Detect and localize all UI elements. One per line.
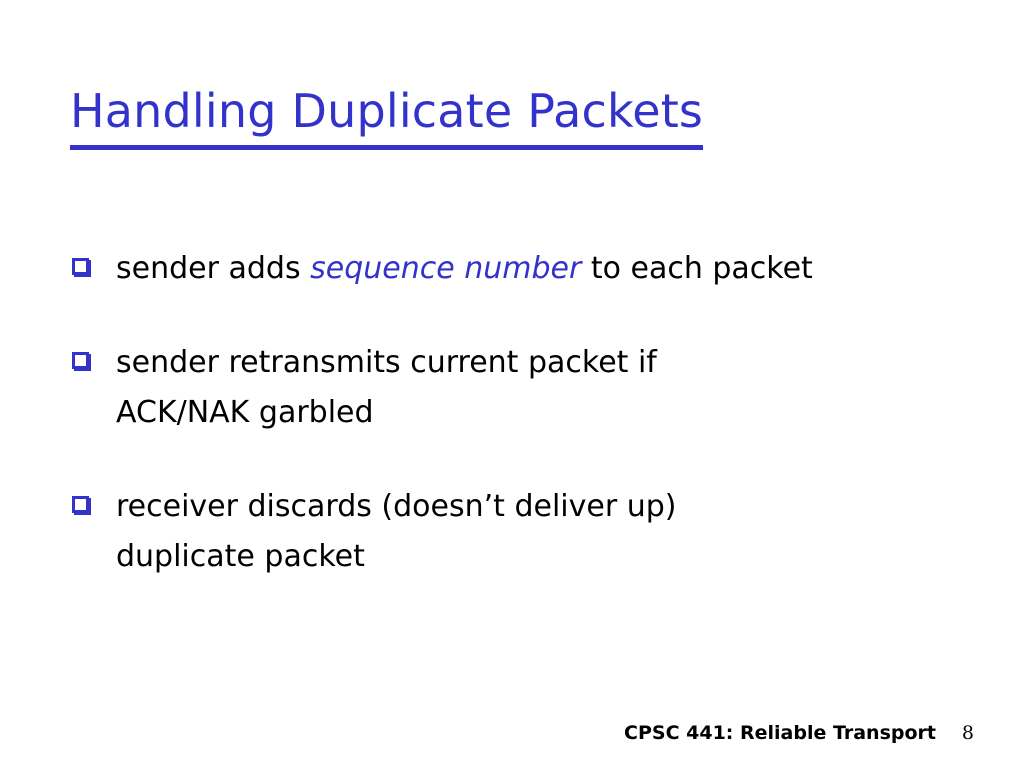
slide-canvas: Handling Duplicate Packets sender adds s… (0, 0, 1024, 768)
square-bullet-icon (72, 496, 89, 513)
list-item-line: receiver discards (doesn’t deliver up) (116, 482, 980, 532)
list-item: receiver discards (doesn’t deliver up) d… (70, 482, 980, 582)
square-bullet-icon (72, 258, 89, 275)
emphasis-text-segment: sequence number (310, 251, 581, 286)
list-item-line: sender adds sequence number to each pack… (116, 244, 980, 294)
bullet-list: sender adds sequence number to each pack… (70, 244, 980, 582)
page-title-text: Handling Duplicate Packets (70, 83, 703, 150)
list-item-line: sender retransmits current packet if (116, 338, 980, 388)
list-item-line: duplicate packet (116, 532, 980, 582)
list-item-text: sender retransmits current packet if ACK… (116, 338, 980, 438)
list-item: sender adds sequence number to each pack… (70, 244, 980, 294)
list-item-line: ACK/NAK garbled (116, 388, 980, 438)
footer-course-label: CPSC 441: Reliable Transport (624, 718, 936, 748)
list-item: sender retransmits current packet if ACK… (70, 338, 980, 438)
page-title: Handling Duplicate Packets (70, 83, 954, 150)
text-segment: sender adds (116, 251, 310, 286)
page-number: 8 (962, 718, 974, 748)
slide-footer: CPSC 441: Reliable Transport 8 (0, 718, 1024, 750)
text-segment: to each packet (581, 251, 813, 286)
list-item-text: receiver discards (doesn’t deliver up) d… (116, 482, 980, 582)
square-bullet-icon (72, 352, 89, 369)
list-item-text: sender adds sequence number to each pack… (116, 244, 980, 294)
